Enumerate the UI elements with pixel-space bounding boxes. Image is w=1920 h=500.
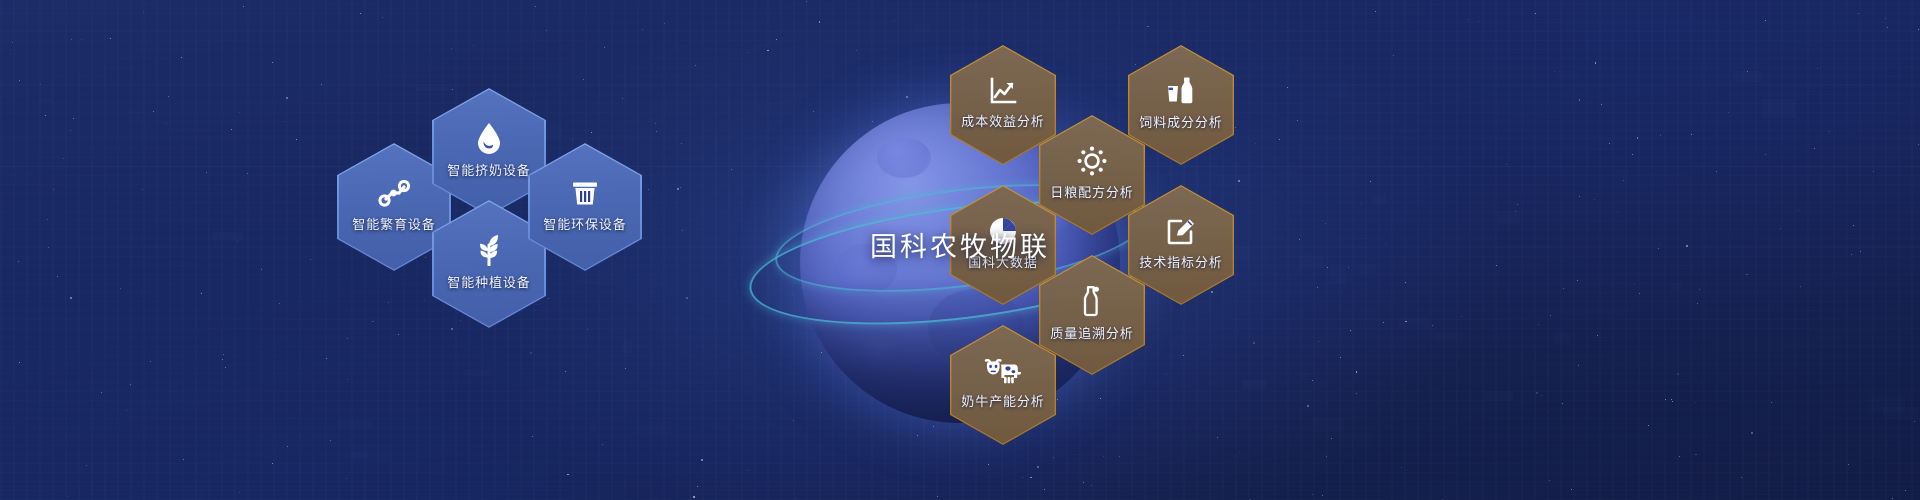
hex-label: 成本效益分析: [961, 111, 1044, 130]
water-drop-icon: [475, 122, 503, 154]
edit-pencil-icon: [1166, 216, 1196, 246]
hex-label: 奶牛产能分析: [961, 391, 1044, 410]
hex-label: 智能繁育设备: [352, 214, 435, 233]
hex-label: 智能环保设备: [543, 214, 626, 233]
line-chart-icon: [989, 77, 1017, 105]
hex-label: 饲料成分分析: [1139, 112, 1222, 131]
hex-label: 质量追溯分析: [1050, 323, 1133, 342]
plant-sprout-icon: [474, 234, 504, 266]
sun-icon: [1077, 146, 1107, 176]
node-graph-icon: [377, 178, 411, 208]
cow-icon: [983, 357, 1023, 385]
hex-dairy-cow-capacity-analysis[interactable]: 奶牛产能分析: [950, 325, 1056, 445]
banner-stage: 智能繁育设备 智能挤奶设备: [0, 0, 1920, 500]
page-title: 国科农牧物联: [760, 225, 1160, 264]
hex-label: 日粮配方分析: [1050, 182, 1133, 201]
hex-label: 智能挤奶设备: [447, 160, 530, 179]
trash-bin-icon: [570, 178, 600, 208]
milk-bottle-glass-icon: [1165, 76, 1197, 106]
hex-intelligent-environmental-equipment[interactable]: 智能环保设备: [528, 143, 642, 271]
hex-label: 智能种植设备: [447, 272, 530, 291]
milk-bottle-outline-icon: [1079, 285, 1105, 317]
